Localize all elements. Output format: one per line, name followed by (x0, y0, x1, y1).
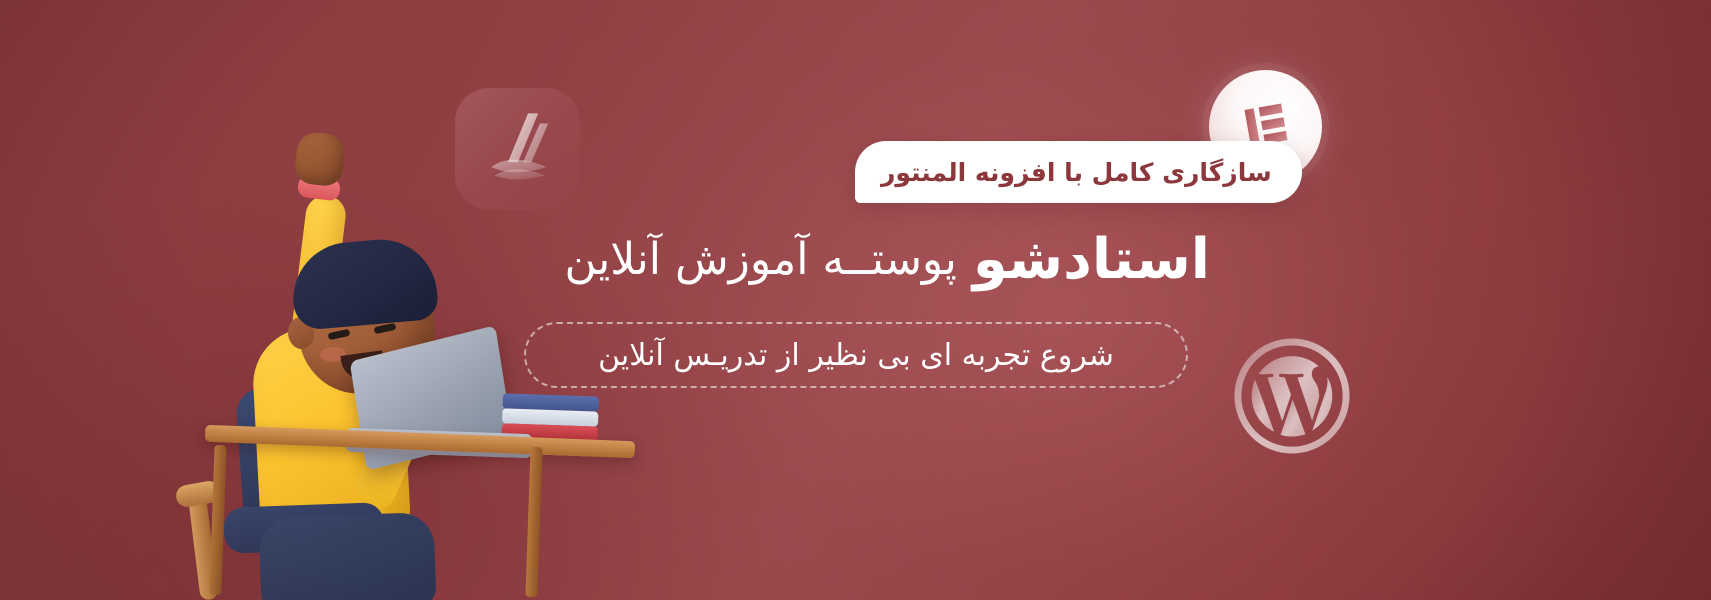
desk-leg-right (525, 447, 542, 597)
raised-fist (293, 131, 346, 188)
subtitle-box: شروع تجربه ای بی نظیر از تدریـس آنلاین (524, 322, 1188, 388)
hero-banner: سازگاری کامل با افزونه المنتور استادشو پ… (0, 0, 1711, 600)
compatibility-badge: سازگاری کامل با افزونه المنتور (855, 141, 1302, 203)
wordpress-logo-badge (1232, 338, 1352, 458)
character-legs (258, 512, 436, 600)
compatibility-badge-label: سازگاری کامل با افزونه المنتور (881, 158, 1272, 187)
headline-bold-part: استادشو (973, 227, 1210, 292)
page-title: استادشو پوستــه آموزش آنلاین (500, 218, 1210, 300)
subtitle-label: شروع تجربه ای بی نظیر از تدریـس آنلاین (598, 338, 1114, 373)
headline-light-part: پوستــه آموزش آنلاین (565, 234, 957, 285)
wordpress-icon (1232, 336, 1352, 460)
